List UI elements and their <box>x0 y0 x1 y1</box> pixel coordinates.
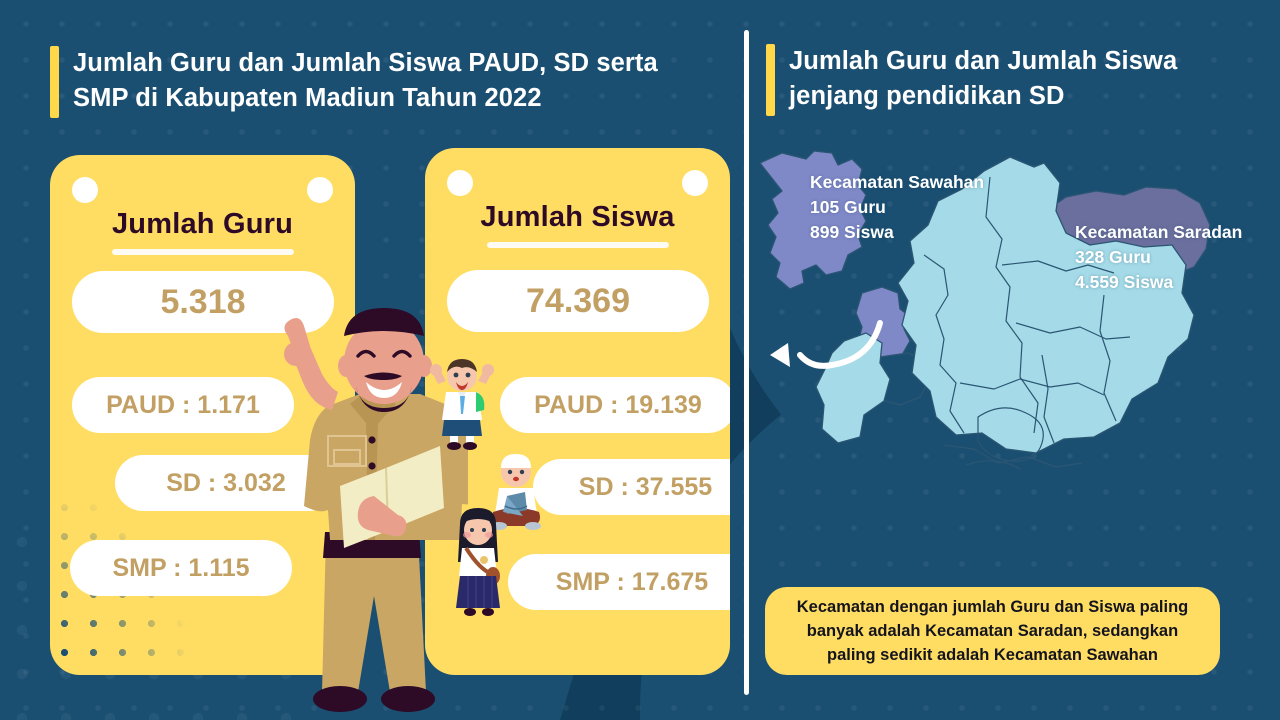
card-punch-hole-right <box>682 170 708 196</box>
title-accent-bar <box>766 44 775 116</box>
map-arrow-head <box>770 343 790 367</box>
siswa-sd-value: SD : 37.555 <box>533 459 730 515</box>
card-punch-hole-left <box>72 177 98 203</box>
cheering-schoolboy-icon <box>428 358 496 450</box>
card-title-guru: Jumlah Guru <box>50 208 355 241</box>
map-label-sawahan-teachers: 105 Guru <box>810 195 984 220</box>
card-punch-hole-right <box>307 177 333 203</box>
map-label-saradan-students: 4.559 Siswa <box>1075 270 1242 295</box>
left-title-text: Jumlah Guru dan Jumlah Siswa PAUD, SD se… <box>73 46 710 116</box>
map-label-sawahan-name: Kecamatan Sawahan <box>810 170 984 195</box>
card-title-underline <box>487 242 669 248</box>
card-punch-hole-left <box>447 170 473 196</box>
left-panel-title: Jumlah Guru dan Jumlah Siswa PAUD, SD se… <box>50 46 710 118</box>
siswa-smp-value: SMP : 17.675 <box>508 554 730 610</box>
guru-smp-value: SMP : 1.115 <box>70 540 292 596</box>
siswa-total-value: 74.369 <box>447 270 709 332</box>
right-panel-title: Jumlah Guru dan Jumlah Siswa jenjang pen… <box>766 44 1226 116</box>
guru-paud-value: PAUD : 1.171 <box>72 377 294 433</box>
map-label-saradan: Kecamatan Saradan 328 Guru 4.559 Siswa <box>1075 220 1242 295</box>
map-label-sawahan: Kecamatan Sawahan 105 Guru 899 Siswa <box>810 170 984 245</box>
card-title-siswa: Jumlah Siswa <box>425 201 730 234</box>
map-footnote: Kecamatan dengan jumlah Guru dan Siswa p… <box>765 587 1220 675</box>
card-title-underline <box>112 249 294 255</box>
right-title-text: Jumlah Guru dan Jumlah Siswa jenjang pen… <box>789 44 1226 114</box>
schoolgirl-with-bag-icon <box>448 508 508 618</box>
map-label-saradan-teachers: 328 Guru <box>1075 245 1242 270</box>
title-accent-bar <box>50 46 59 118</box>
siswa-paud-value: PAUD : 19.139 <box>500 377 730 433</box>
map-region-west <box>816 333 890 443</box>
left-panel: Jumlah Guru dan Jumlah Siswa PAUD, SD se… <box>0 0 745 720</box>
map-label-sawahan-students: 899 Siswa <box>810 220 984 245</box>
map-label-saradan-name: Kecamatan Saradan <box>1075 220 1242 245</box>
